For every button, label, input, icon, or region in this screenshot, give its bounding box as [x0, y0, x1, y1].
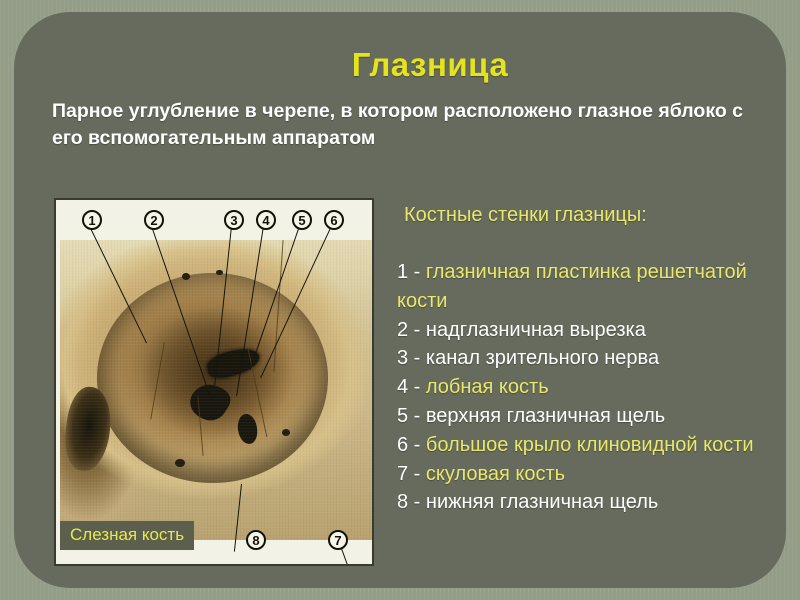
- list-item-dash: -: [408, 491, 426, 513]
- list-item: 1 - глазничная пластинка решетчатой кост…: [397, 258, 779, 316]
- callout-marker-4[interactable]: 4: [256, 210, 276, 230]
- list-item-label: глазничная пластинка решетчатой кости: [397, 261, 747, 312]
- list-item-dash: -: [408, 405, 426, 427]
- list-item-dash: -: [408, 347, 426, 369]
- list-item-dash: -: [408, 261, 426, 283]
- bone-walls-list: 1 - глазничная пластинка решетчатой кост…: [397, 258, 779, 517]
- list-item-dash: -: [408, 463, 426, 485]
- foramen: [182, 273, 190, 280]
- list-item-number: 5: [397, 405, 408, 427]
- list-item-dash: -: [408, 434, 426, 456]
- list-item: 8 - нижняя глазничная щель: [397, 488, 779, 517]
- slide-panel: Глазница Парное углубление в черепе, в к…: [14, 12, 786, 588]
- list-item-label: верхняя глазничная щель: [426, 405, 665, 427]
- list-heading: Костные стенки глазницы:: [404, 204, 647, 227]
- callout-marker-6[interactable]: 6: [324, 210, 344, 230]
- list-item: 4 - лобная кость: [397, 373, 779, 402]
- list-item-dash: -: [408, 319, 426, 341]
- callout-marker-8[interactable]: 8: [246, 530, 266, 550]
- slide-frame: Глазница Парное углубление в черепе, в к…: [0, 0, 800, 600]
- callout-marker-2[interactable]: 2: [144, 210, 164, 230]
- list-item-number: 1: [397, 261, 408, 283]
- callout-marker-1[interactable]: 1: [82, 210, 102, 230]
- page-title: Глазница: [14, 46, 786, 84]
- figure-caption-lacrimal-bone: Слезная кость: [60, 521, 194, 550]
- list-item-dash: -: [408, 376, 426, 398]
- list-item-number: 8: [397, 491, 408, 513]
- list-item-label: скуловая кость: [426, 463, 565, 485]
- list-item-label: канал зрительного нерва: [426, 347, 659, 369]
- slide-subtitle: Парное углубление в черепе, в котором ра…: [52, 98, 778, 152]
- list-item: 7 - скуловая кость: [397, 460, 779, 489]
- callout-marker-7[interactable]: 7: [328, 530, 348, 550]
- callout-marker-3[interactable]: 3: [224, 210, 244, 230]
- list-item-number: 7: [397, 463, 408, 485]
- list-item: 2 - надглазничная вырезка: [397, 316, 779, 345]
- list-item-number: 2: [397, 319, 408, 341]
- list-item: 6 - большое крыло клиновидной кости: [397, 431, 779, 460]
- list-item: 5 - верхняя глазничная щель: [397, 402, 779, 431]
- foramen: [282, 429, 290, 436]
- anatomy-figure: 1 2 3 4 5 6 7 8 Слезная кость: [54, 198, 374, 566]
- list-item-number: 6: [397, 434, 408, 456]
- list-item-label: лобная кость: [426, 376, 549, 398]
- list-item-number: 3: [397, 347, 408, 369]
- list-item-label: надглазничная вырезка: [426, 319, 646, 341]
- list-item-label: большое крыло клиновидной кости: [426, 434, 754, 456]
- callout-marker-5[interactable]: 5: [292, 210, 312, 230]
- list-item: 3 - канал зрительного нерва: [397, 344, 779, 373]
- orbit-photograph: [60, 240, 372, 540]
- list-item-number: 4: [397, 376, 408, 398]
- list-item-label: нижняя глазничная щель: [426, 491, 658, 513]
